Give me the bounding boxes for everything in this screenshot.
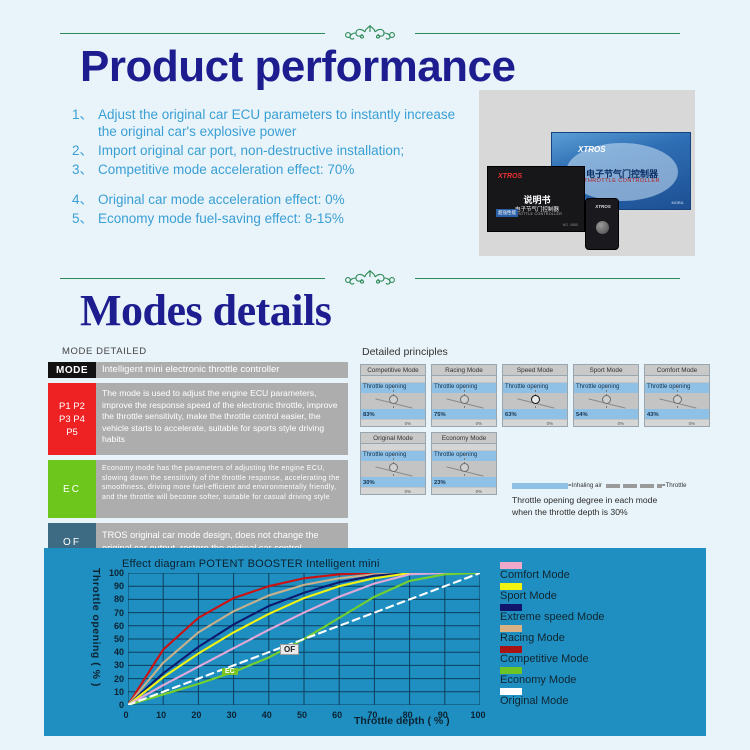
chart-y-tick: 90 (114, 581, 124, 591)
chart-y-ticks: 0102030405060708090100 (102, 573, 124, 705)
chart-x-ticks: 0102030405060708090100 (126, 710, 480, 722)
principle-card: Speed ModeThrottle opening63%0% (502, 364, 568, 427)
device-knob (596, 221, 609, 234)
chart-x-tick: 80 (403, 710, 413, 720)
principle-card: Sport ModeThrottle opening54%0% (573, 364, 639, 427)
chart-legend-item: Original Mode (500, 688, 605, 708)
chart-x-tick: 70 (367, 710, 377, 720)
card-zero-label: 0% (405, 421, 411, 426)
card-zero-label: 0% (618, 421, 624, 426)
card-percent-value: 23% (434, 480, 446, 486)
mode-key-line: P5 (66, 426, 78, 439)
mode-detailed-table: MODE Intelligent mini electronic throttl… (48, 362, 348, 566)
chart-legend-label: Original Mode (500, 695, 605, 708)
card-strip-bottom (645, 420, 709, 426)
legend-note-line1: Throttle opening degree in each mode (512, 494, 732, 506)
card-band-label: Throttle opening (363, 452, 406, 458)
list-item-text: Import original car port, non-destructiv… (98, 142, 472, 159)
card-percent-value: 75% (434, 412, 446, 418)
chart-title: Effect diagram POTENT BOOSTER Intelligen… (122, 558, 380, 570)
chart-y-tick: 30 (114, 660, 124, 670)
principle-card: Racing ModeThrottle opening75%0% (431, 364, 497, 427)
card-strip-bottom (361, 488, 425, 494)
chart-y-tick: 100 (109, 568, 124, 578)
chart-legend-label: Comfort Mode (500, 569, 605, 582)
list-item: 2、 Import original car port, non-destruc… (72, 142, 472, 159)
chart-legend-item: Comfort Mode (500, 562, 605, 582)
card-strip-top (361, 376, 425, 382)
list-item: 1、 Adjust the original car ECU parameter… (72, 106, 472, 140)
card-zero-label: 0% (689, 421, 695, 426)
product-device-unit: XTROS (585, 198, 619, 250)
chart-y-tick: 70 (114, 608, 124, 618)
card-strip-bottom (361, 420, 425, 426)
principle-card-title: Racing Mode (432, 365, 496, 376)
chart-legend-label: Extreme speed Mode (500, 611, 605, 624)
list-item-text: Economy mode fuel-saving effect: 8-15% (98, 210, 472, 227)
ornament-flourish-icon (327, 23, 413, 43)
principle-card-title: Original Mode (361, 433, 425, 444)
mode-key-header: MODE (48, 362, 96, 378)
mode-value-header: Intelligent mini electronic throttle con… (96, 362, 348, 378)
product-photo: XTROS 电子节气门控制器 THROTTLE CONTROLLER MOBIL… (479, 90, 695, 256)
principle-card-body: Throttle opening43%0% (645, 376, 709, 426)
card-band-label: Throttle opening (434, 452, 477, 458)
chart-legend-item: Economy Mode (500, 667, 605, 687)
effect-diagram-chart: Effect diagram POTENT BOOSTER Intelligen… (44, 548, 706, 736)
card-strip-top (361, 444, 425, 450)
mode-key-line: P3 P4 (59, 413, 85, 426)
ornament-line-right (415, 278, 680, 279)
card-zero-label: 0% (476, 489, 482, 494)
chart-y-axis-label: Throttle opening ( % ) (86, 568, 102, 708)
card-band-label: Throttle opening (505, 384, 548, 390)
card-pedal-icon (460, 395, 469, 404)
list-item: 5、 Economy mode fuel-saving effect: 8-15… (72, 210, 472, 227)
card-strip-top (432, 376, 496, 382)
chart-legend-label: Economy Mode (500, 674, 605, 687)
principle-card-title: Economy Mode (432, 433, 496, 444)
principle-card: Original ModeThrottle opening30%0% (360, 432, 426, 495)
card-percent-value: 30% (363, 480, 375, 486)
chart-x-tick: 20 (191, 710, 201, 720)
card-pedal-icon (460, 463, 469, 472)
principle-card-body: Throttle opening23%0% (432, 444, 496, 494)
card-strip-bottom (503, 420, 567, 426)
card-strip-top (503, 376, 567, 382)
card-percent-value: 63% (505, 412, 517, 418)
table-row: P1 P2 P3 P4 P5 The mode is used to adjus… (48, 383, 348, 455)
principle-cards: Competitive ModeThrottle opening83%0%Rac… (360, 364, 710, 495)
chart-legend-swatch (500, 688, 522, 695)
chart-legend-swatch (500, 583, 522, 590)
box-brand-logo: XTROS (578, 145, 606, 154)
chart-legend-swatch (500, 667, 522, 674)
chart-y-tick: 40 (114, 647, 124, 657)
card-band-label: Throttle opening (363, 384, 406, 390)
mode-value-p-series: The mode is used to adjust the engine EC… (96, 383, 348, 455)
chart-legend-item: Extreme speed Mode (500, 604, 605, 624)
legend-row-air: =Inhaling air =Throttle (512, 482, 732, 489)
chart-x-tick: 60 (332, 710, 342, 720)
chart-x-tick: 0 (123, 710, 128, 720)
chart-y-tick: 0 (119, 700, 124, 710)
list-item-text: Competitive mode acceleration effect: 70… (98, 161, 472, 178)
chart-legend-item: Sport Mode (500, 583, 605, 603)
card-band-label: Throttle opening (576, 384, 619, 390)
ornament-line-right (415, 33, 680, 34)
chart-legend-label: Racing Mode (500, 632, 605, 645)
box-model-mark: MOBIL (672, 200, 684, 205)
card-pedal-icon (602, 395, 611, 404)
card-pedal-icon (389, 395, 398, 404)
chart-y-tick: 50 (114, 634, 124, 644)
chart-y-tick: 80 (114, 594, 124, 604)
product-feature-list: 1、 Adjust the original car ECU parameter… (72, 106, 472, 229)
principle-card: Economy ModeThrottle opening23%0% (431, 432, 497, 495)
chart-y-tick: 10 (114, 687, 124, 697)
detailed-principles-caption: Detailed principles (362, 346, 448, 358)
chart-legend-swatch (500, 625, 522, 632)
card-pedal-icon (531, 395, 540, 404)
chart-y-tick: 20 (114, 674, 124, 684)
card-strip-bottom (574, 420, 638, 426)
chart-plot-area (128, 573, 480, 705)
chart-legend-item: Competitive Mode (500, 646, 605, 666)
card-strip-top (574, 376, 638, 382)
card-strip-bottom (432, 488, 496, 494)
ornament-line-left (60, 33, 325, 34)
card-strip-bottom (432, 420, 496, 426)
chart-x-tick: 40 (262, 710, 272, 720)
table-row: EC Economy mode has the parameters of ad… (48, 460, 348, 518)
principle-card-body: Throttle opening30%0% (361, 444, 425, 494)
list-item-number: 5、 (72, 210, 98, 227)
legend-label-air: =Inhaling air (568, 482, 602, 489)
list-item-number: 3、 (72, 161, 98, 178)
chart-legend-item: Racing Mode (500, 625, 605, 645)
chart-x-tick: 30 (227, 710, 237, 720)
product-manual: XTROS 说明书 电子节气门控制器 THROTTLE CONTROLLER 超… (487, 166, 585, 232)
chart-x-tick: 100 (470, 710, 485, 720)
list-item-text: Original car mode acceleration effect: 0… (98, 191, 472, 208)
chart-x-tick: 90 (438, 710, 448, 720)
chart-legend: Comfort ModeSport ModeExtreme speed Mode… (500, 562, 605, 709)
principle-card: Competitive ModeThrottle opening83%0% (360, 364, 426, 427)
manual-badge: 超强性能 (496, 209, 518, 217)
list-item-number: 2、 (72, 142, 98, 159)
manual-brand-logo: XTROS (498, 173, 522, 180)
device-brand-logo: XTROS (586, 204, 620, 209)
manual-model-mark: NO. 0885 (563, 223, 578, 227)
chart-y-tick: 60 (114, 621, 124, 631)
chart-legend-label: Sport Mode (500, 590, 605, 603)
card-pedal-icon (673, 395, 682, 404)
principle-card-title: Competitive Mode (361, 365, 425, 376)
chart-legend-swatch (500, 562, 522, 569)
ornament-divider-top (60, 22, 680, 44)
principle-card: Comfort ModeThrottle opening43%0% (644, 364, 710, 427)
mode-key-ec: EC (48, 460, 96, 518)
principles-legend: =Inhaling air =Throttle Throttle opening… (512, 482, 732, 518)
principle-card-body: Throttle opening54%0% (574, 376, 638, 426)
page-title-product-performance: Product performance (80, 42, 515, 92)
card-zero-label: 0% (547, 421, 553, 426)
principle-card-body: Throttle opening75%0% (432, 376, 496, 426)
page-title-modes-details: Modes details (80, 285, 331, 336)
card-band-label: Throttle opening (434, 384, 477, 390)
chart-legend-label: Competitive Mode (500, 653, 605, 666)
card-zero-label: 0% (476, 421, 482, 426)
mode-value-ec: Economy mode has the parameters of adjus… (96, 460, 348, 518)
list-item: 3、 Competitive mode acceleration effect:… (72, 161, 472, 178)
card-percent-value: 54% (576, 412, 588, 418)
principle-card-body: Throttle opening63%0% (503, 376, 567, 426)
principle-card-title: Speed Mode (503, 365, 567, 376)
chart-legend-swatch (500, 604, 522, 611)
mode-key-line: P1 P2 (59, 400, 85, 413)
list-item-number: 4、 (72, 191, 98, 208)
principle-card-body: Throttle opening83%0% (361, 376, 425, 426)
mode-detailed-caption: MODE DETAILED (62, 346, 147, 357)
legend-swatch-throttle (606, 484, 662, 488)
card-strip-top (432, 444, 496, 450)
chart-x-tick: 10 (156, 710, 166, 720)
card-pedal-icon (389, 463, 398, 472)
legend-note-line2: when the throttle depth is 30% (512, 506, 732, 518)
chart-annotation-ec: EC (222, 668, 238, 675)
card-percent-value: 83% (363, 412, 375, 418)
list-item-text: Adjust the original car ECU parameters t… (98, 106, 472, 140)
chart-legend-swatch (500, 646, 522, 653)
list-item: 4、 Original car mode acceleration effect… (72, 191, 472, 208)
legend-note: Throttle opening degree in each mode whe… (512, 494, 732, 518)
card-zero-label: 0% (405, 489, 411, 494)
ornament-line-left (60, 278, 325, 279)
principle-card-title: Sport Mode (574, 365, 638, 376)
ornament-flourish-icon (327, 268, 413, 288)
legend-label-throttle: =Throttle (662, 482, 687, 489)
chart-x-tick: 50 (297, 710, 307, 720)
principle-card-title: Comfort Mode (645, 365, 709, 376)
chart-annotation-of: OF (280, 644, 299, 655)
list-item-number: 1、 (72, 106, 98, 140)
mode-key-p-series: P1 P2 P3 P4 P5 (48, 383, 96, 455)
card-percent-value: 43% (647, 412, 659, 418)
infographic-page: Product performance 1、 Adjust the origin… (0, 0, 750, 750)
card-band-label: Throttle opening (647, 384, 690, 390)
table-row: MODE Intelligent mini electronic throttl… (48, 362, 348, 378)
legend-swatch-air (512, 483, 568, 489)
card-strip-top (645, 376, 709, 382)
